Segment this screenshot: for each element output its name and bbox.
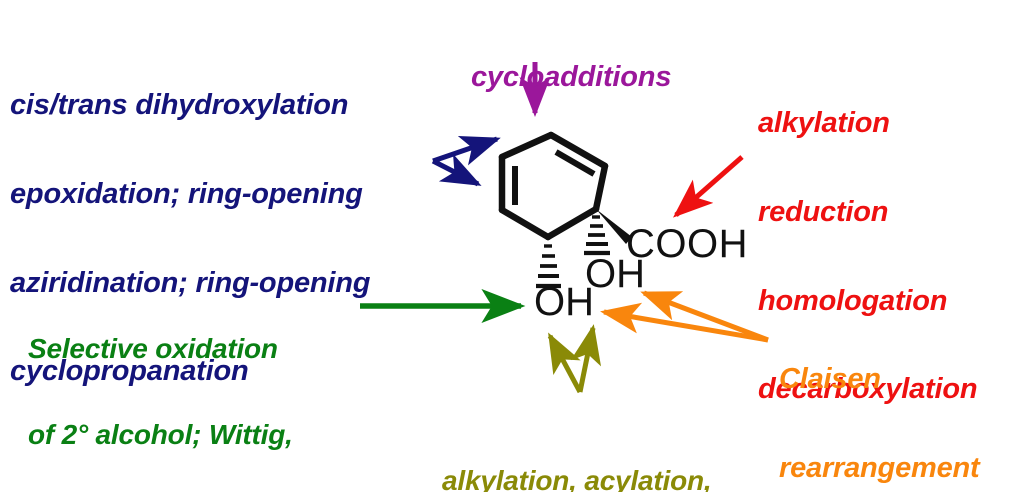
annotation-line: alkylation, acylation, [442, 467, 711, 492]
annotation-line: Claisen [779, 365, 980, 395]
annotation-line: of 2° alcohol; Wittig, [28, 421, 304, 450]
annotation-line: epoxidation; ring-opening [10, 180, 370, 210]
arrow-alkylation-olive-left [550, 336, 580, 392]
hashed-bond-oh-upper [584, 217, 610, 253]
arrow-claisen-upper [644, 293, 768, 340]
annotation-line: cis/trans dihydroxylation [10, 91, 370, 121]
annotation-line: alkylation [758, 109, 977, 139]
annotation-selective-oxidation: Selective oxidation of 2° alcohol; Witti… [28, 278, 304, 492]
atom-label-oh-lower: OH [534, 280, 594, 325]
arrow-alkylation-olive-right [580, 328, 593, 392]
arrow-dihydroxylation-lower [433, 161, 478, 184]
atom-label-oh-upper: OH [585, 252, 645, 297]
ring-double-bonds [515, 152, 594, 205]
figure-canvas: COOH OH OH cis/trans dihydroxylation epo… [0, 0, 1023, 492]
annotation-line: cycloadditions [471, 63, 671, 93]
annotation-line: rearrangement [779, 454, 980, 484]
annotation-line: reduction [758, 198, 977, 228]
arrow-claisen-lower [604, 312, 768, 340]
annotation-alkylation-olive: alkylation, acylation, ring scission [442, 410, 711, 492]
arrow-alkylation-red [676, 157, 742, 215]
annotation-cycloadditions: cycloadditions [471, 4, 671, 152]
annotation-claisen: Claisen rearrangement [779, 306, 980, 492]
annotation-line: Selective oxidation [28, 335, 304, 364]
